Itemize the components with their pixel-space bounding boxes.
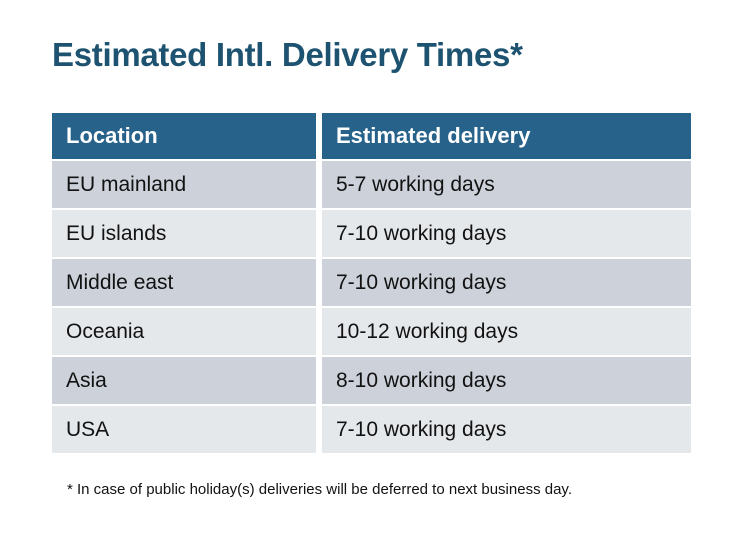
table-row: EU islands 7-10 working days bbox=[52, 210, 691, 257]
cell-location: USA bbox=[52, 406, 316, 453]
cell-location: Asia bbox=[52, 357, 316, 404]
cell-delivery: 7-10 working days bbox=[322, 210, 691, 257]
delivery-times-table: Location Estimated delivery EU mainland … bbox=[52, 113, 691, 455]
cell-delivery: 7-10 working days bbox=[322, 406, 691, 453]
cell-location: Middle east bbox=[52, 259, 316, 306]
table-header-row: Location Estimated delivery bbox=[52, 113, 691, 159]
cell-location: Oceania bbox=[52, 308, 316, 355]
cell-location: EU mainland bbox=[52, 161, 316, 208]
cell-location: EU islands bbox=[52, 210, 316, 257]
table-row: EU mainland 5-7 working days bbox=[52, 161, 691, 208]
cell-delivery: 7-10 working days bbox=[322, 259, 691, 306]
table-row: Oceania 10-12 working days bbox=[52, 308, 691, 355]
footnote-text: * In case of public holiday(s) deliverie… bbox=[67, 481, 572, 498]
delivery-times-page: Estimated Intl. Delivery Times* Location… bbox=[0, 0, 745, 536]
cell-delivery: 5-7 working days bbox=[322, 161, 691, 208]
column-header-estimated-delivery: Estimated delivery bbox=[322, 113, 691, 159]
cell-delivery: 10-12 working days bbox=[322, 308, 691, 355]
table-row: Asia 8-10 working days bbox=[52, 357, 691, 404]
page-title: Estimated Intl. Delivery Times* bbox=[52, 36, 523, 74]
cell-delivery: 8-10 working days bbox=[322, 357, 691, 404]
table-row: USA 7-10 working days bbox=[52, 406, 691, 453]
column-header-location: Location bbox=[52, 113, 316, 159]
table-row: Middle east 7-10 working days bbox=[52, 259, 691, 306]
